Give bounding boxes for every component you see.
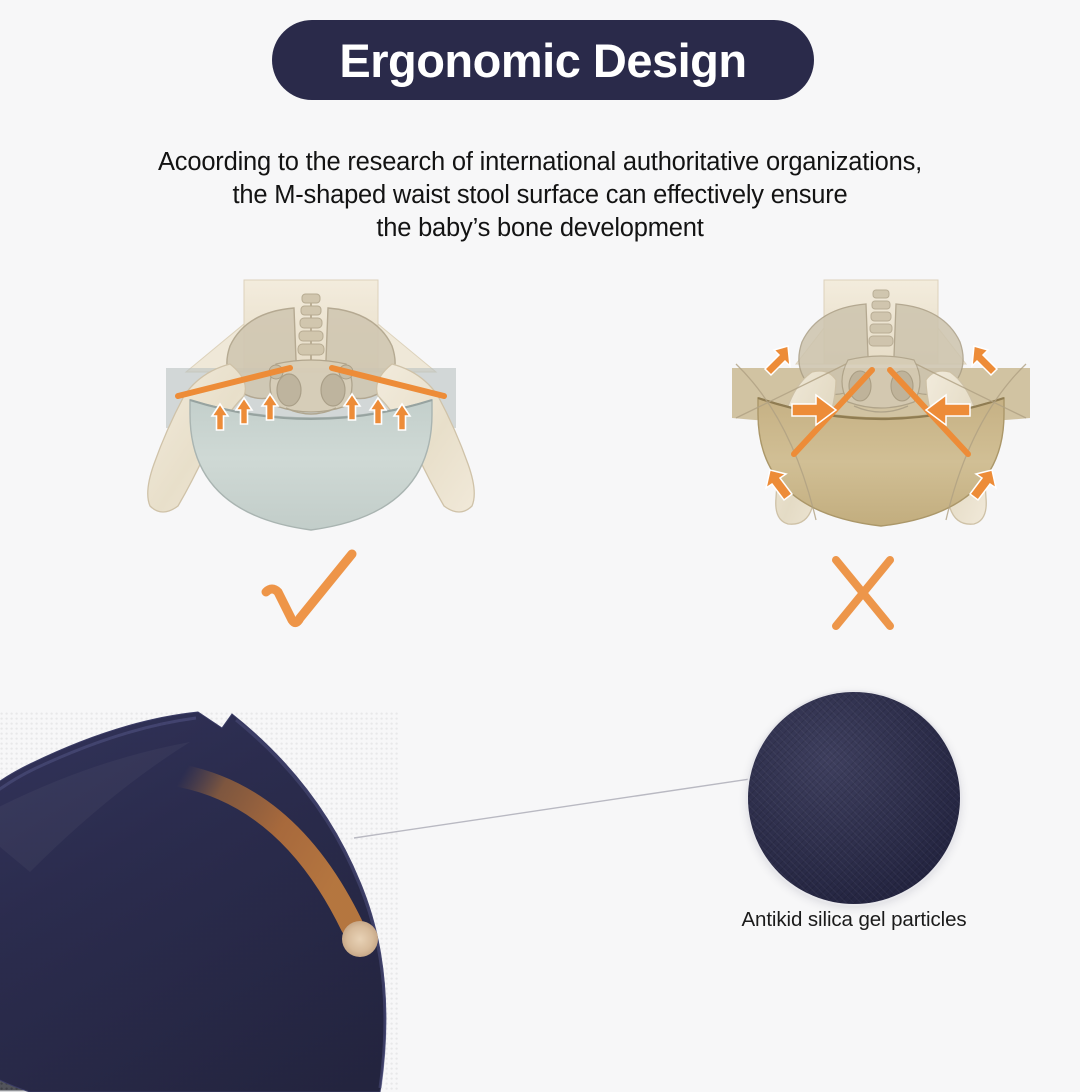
subtitle-line-3: the baby’s bone development — [0, 212, 1080, 245]
correct-check-icon — [252, 548, 372, 640]
incorrect-posture-illustration — [696, 268, 1066, 568]
correct-posture-illustration — [126, 268, 496, 568]
incorrect-cross-icon — [818, 548, 938, 640]
fabric-magnifier-circle — [748, 692, 960, 904]
page-title: Ergonomic Design — [339, 33, 746, 88]
page-title-badge: Ergonomic Design — [272, 20, 814, 100]
callout-caption: Antikid silica gel particles — [694, 908, 1014, 932]
silica-gel-anchor-dot — [342, 921, 378, 957]
product-photo — [0, 672, 480, 1092]
subtitle-line-2: the M-shaped waist stool surface can eff… — [0, 179, 1080, 212]
m-shaped-seat — [190, 400, 432, 530]
fabric-weave-texture — [748, 692, 960, 904]
infographic-canvas: Ergonomic Design Acoording to the resear… — [0, 0, 1080, 1080]
subtitle-block: Acoording to the research of internation… — [0, 146, 1080, 245]
subtitle-line-1: Acoording to the research of internation… — [0, 146, 1080, 179]
